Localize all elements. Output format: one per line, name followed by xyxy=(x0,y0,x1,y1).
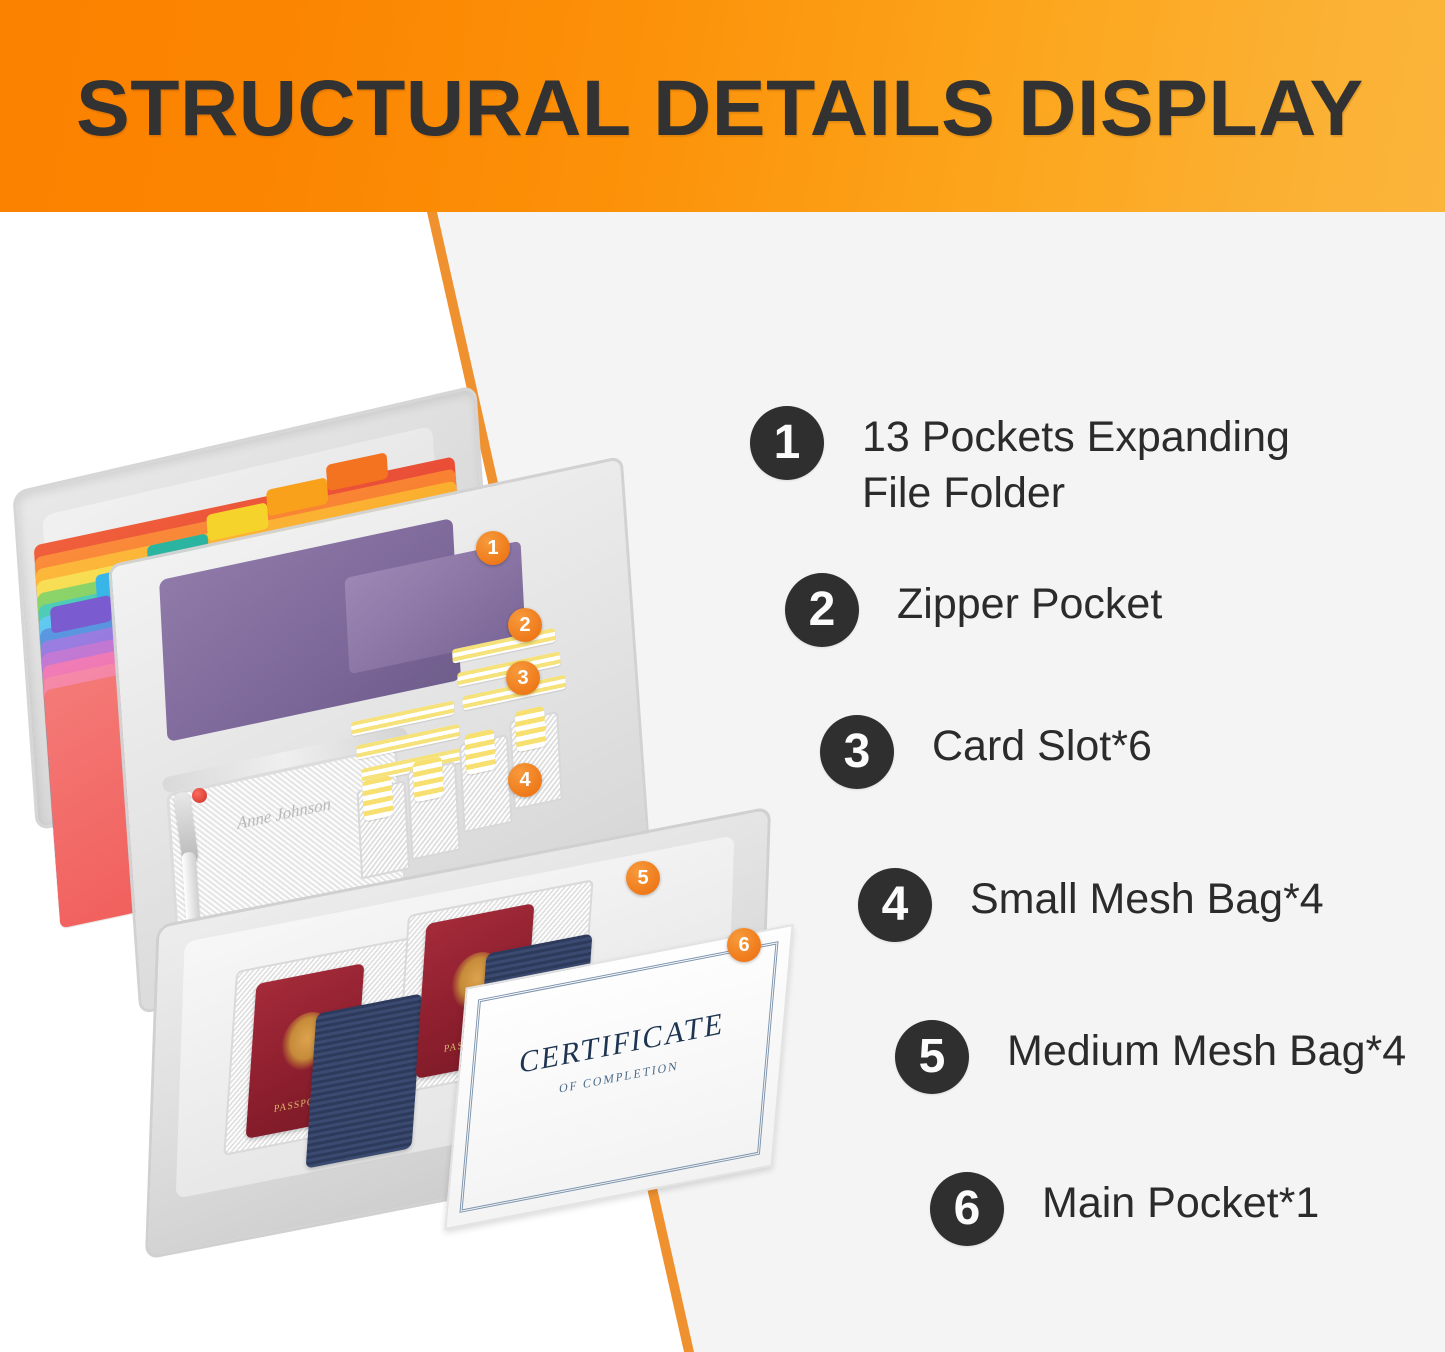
callout-badge-3: 3 xyxy=(506,661,540,695)
legend-badge-6: 6 xyxy=(930,1172,1004,1246)
legend-label-5: Medium Mesh Bag*4 xyxy=(1007,1020,1406,1080)
legend-badge-5: 5 xyxy=(895,1020,969,1094)
legend-item-1[interactable]: 1 13 Pockets Expanding File Folder xyxy=(750,406,1290,522)
legend-item-6[interactable]: 6 Main Pocket*1 xyxy=(930,1172,1319,1246)
callout-badge-1: 1 xyxy=(476,531,510,565)
legend-item-5[interactable]: 5 Medium Mesh Bag*4 xyxy=(895,1020,1406,1094)
callout-badge-6: 6 xyxy=(727,928,761,962)
legend-label-6: Main Pocket*1 xyxy=(1042,1172,1319,1232)
legend-label-3: Card Slot*6 xyxy=(932,715,1152,775)
infographic-page: STRUCTURAL DETAILS DISPLAY xyxy=(0,0,1445,1352)
callout-badge-5: 5 xyxy=(626,861,660,895)
legend-item-2[interactable]: 2 Zipper Pocket xyxy=(785,573,1162,647)
callout-badge-2: 2 xyxy=(508,608,542,642)
legend-label-1: 13 Pockets Expanding File Folder xyxy=(862,406,1290,522)
legend-badge-2: 2 xyxy=(785,573,859,647)
legend-list: 1 13 Pockets Expanding File Folder 2 Zip… xyxy=(0,0,1445,1352)
legend-item-3[interactable]: 3 Card Slot*6 xyxy=(820,715,1152,789)
legend-badge-3: 3 xyxy=(820,715,894,789)
legend-label-2: Zipper Pocket xyxy=(897,573,1162,633)
legend-item-4[interactable]: 4 Small Mesh Bag*4 xyxy=(858,868,1324,942)
callout-badge-4: 4 xyxy=(508,763,542,797)
legend-label-4: Small Mesh Bag*4 xyxy=(970,868,1324,928)
legend-badge-4: 4 xyxy=(858,868,932,942)
legend-badge-1: 1 xyxy=(750,406,824,480)
